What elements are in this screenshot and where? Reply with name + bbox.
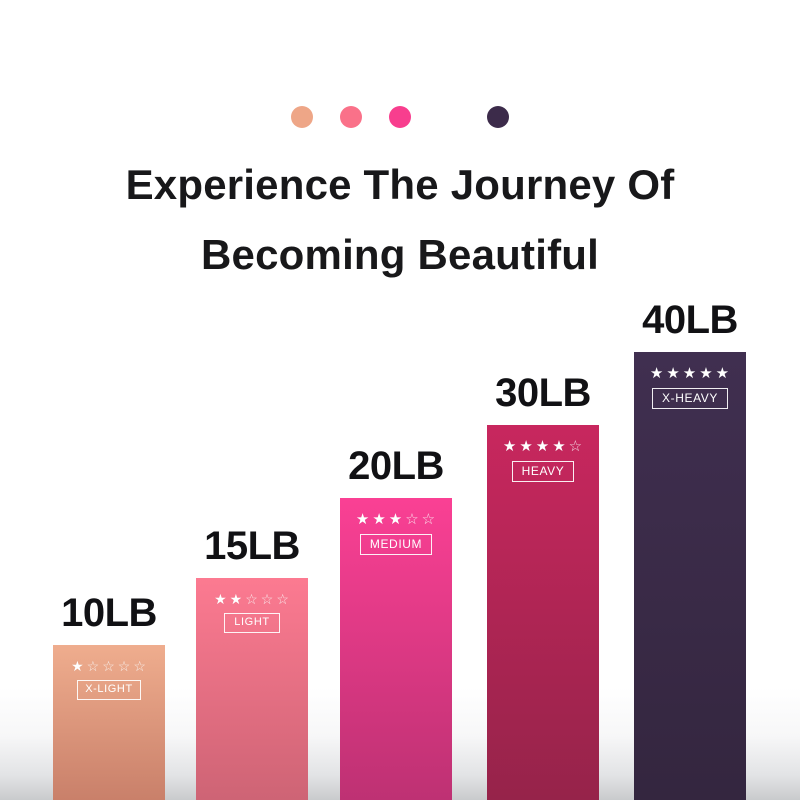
bar-value-label: 30LB (487, 373, 599, 425)
bar-fill (634, 352, 746, 800)
bar-value-label: 15LB (196, 526, 308, 578)
rating-stars: ★★★☆☆ (356, 512, 436, 527)
bar-group-light[interactable]: 15LB★★☆☆☆LIGHT (196, 578, 308, 800)
star-empty-icon: ☆ (261, 592, 275, 606)
star-filled-icon: ★ (71, 659, 85, 673)
star-empty-icon: ☆ (276, 592, 290, 606)
star-filled-icon: ★ (389, 512, 403, 527)
level-badge: LIGHT (224, 613, 279, 633)
star-empty-icon: ☆ (422, 512, 436, 527)
level-badge: X-HEAVY (652, 388, 728, 409)
level-badge: MEDIUM (360, 534, 432, 555)
star-filled-icon: ★ (650, 366, 664, 381)
star-filled-icon: ★ (536, 439, 550, 454)
star-empty-icon: ☆ (118, 659, 132, 673)
star-filled-icon: ★ (666, 366, 680, 381)
star-empty-icon: ☆ (405, 512, 419, 527)
star-empty-icon: ☆ (569, 439, 583, 454)
bar-rect[interactable]: ★★☆☆☆LIGHT (196, 578, 308, 800)
star-filled-icon: ★ (716, 366, 730, 381)
star-filled-icon: ★ (214, 592, 228, 606)
poster-canvas: Experience The Journey Of Becoming Beaut… (0, 0, 800, 800)
star-filled-icon: ★ (699, 366, 713, 381)
star-filled-icon: ★ (552, 439, 566, 454)
star-filled-icon: ★ (683, 366, 697, 381)
star-empty-icon: ☆ (102, 659, 116, 673)
bar-group-medium[interactable]: 20LB★★★☆☆MEDIUM (340, 498, 452, 800)
bar-rect[interactable]: ★★★★☆HEAVY (487, 425, 599, 800)
star-filled-icon: ★ (503, 439, 517, 454)
bar-group-x-heavy[interactable]: 40LB★★★★★X-HEAVY (634, 352, 746, 800)
rating-stars: ★★★★☆ (503, 439, 583, 454)
bar-content: ★★★★★X-HEAVY (634, 366, 746, 409)
star-empty-icon: ☆ (245, 592, 259, 606)
star-filled-icon: ★ (372, 512, 386, 527)
bar-group-heavy[interactable]: 30LB★★★★☆HEAVY (487, 425, 599, 800)
bar-content: ★☆☆☆☆X-LIGHT (53, 659, 165, 700)
bar-group-x-light[interactable]: 10LB★☆☆☆☆X-LIGHT (53, 645, 165, 800)
bar-value-label: 20LB (340, 446, 452, 498)
bar-value-label: 40LB (634, 300, 746, 352)
bar-content: ★★☆☆☆LIGHT (196, 592, 308, 633)
star-filled-icon: ★ (356, 512, 370, 527)
star-empty-icon: ☆ (87, 659, 101, 673)
level-badge: X-LIGHT (77, 680, 141, 700)
bar-rect[interactable]: ★★★★★X-HEAVY (634, 352, 746, 800)
bar-content: ★★★★☆HEAVY (487, 439, 599, 482)
bar-content: ★★★☆☆MEDIUM (340, 512, 452, 555)
star-filled-icon: ★ (519, 439, 533, 454)
bar-rect[interactable]: ★★★☆☆MEDIUM (340, 498, 452, 800)
star-filled-icon: ★ (230, 592, 244, 606)
rating-stars: ★★☆☆☆ (214, 592, 290, 606)
rating-stars: ★★★★★ (650, 366, 730, 381)
bar-rect[interactable]: ★☆☆☆☆X-LIGHT (53, 645, 165, 800)
star-empty-icon: ☆ (133, 659, 147, 673)
level-badge: HEAVY (512, 461, 575, 482)
bar-value-label: 10LB (53, 593, 165, 645)
rating-stars: ★☆☆☆☆ (71, 659, 147, 673)
resistance-bar-chart: 10LB★☆☆☆☆X-LIGHT15LB★★☆☆☆LIGHT20LB★★★☆☆M… (0, 0, 800, 800)
